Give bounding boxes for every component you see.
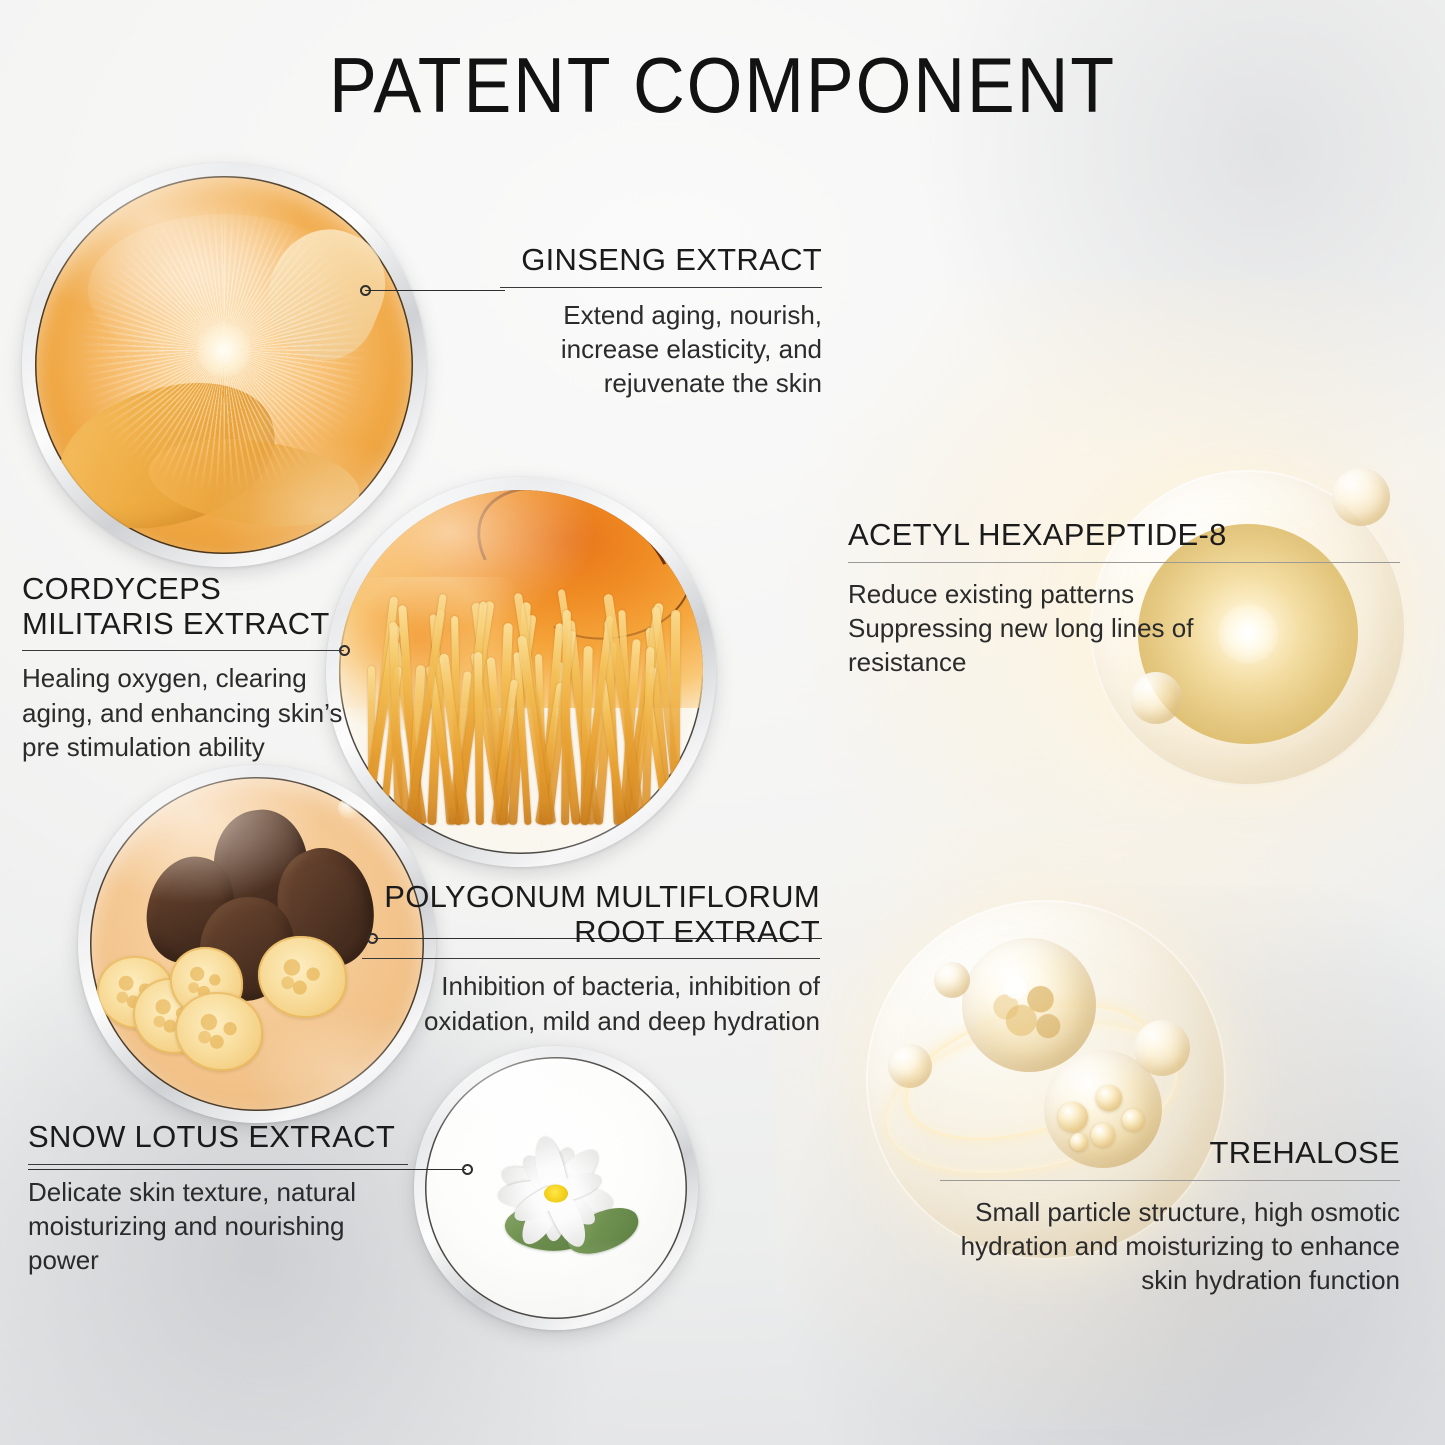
ingredient-name-trehalose: TREHALOSE xyxy=(940,1136,1400,1171)
inner-golden-sphere xyxy=(962,938,1096,1072)
infographic-canvas: PATENT COMPONENT xyxy=(0,0,1445,1445)
dish-contents xyxy=(425,1057,687,1319)
callout-acetyl-hexapeptide: ACETYL HEXAPEPTIDE-8 Reduce existing pat… xyxy=(848,518,1400,680)
ingredient-description-acetyl-hexapeptide: Reduce existing patterns Suppressing new… xyxy=(848,577,1400,680)
polygonum-root-slice xyxy=(258,936,347,1017)
ingredient-name-snow-lotus: SNOW LOTUS EXTRACT xyxy=(28,1120,408,1155)
ingredient-description-trehalose: Small particle structure, high osmotic h… xyxy=(940,1195,1400,1298)
ingredient-description-polygonum: Inhibition of bacteria, inhibition of ox… xyxy=(362,969,820,1038)
ingredient-description-cordyceps: Healing oxygen, clearing aging, and enha… xyxy=(22,661,344,764)
satellite-bubble xyxy=(934,962,970,998)
snow-lotus-petri-dish xyxy=(414,1046,698,1330)
ingredient-description-snow-lotus: Delicate skin texture, natural moisturiz… xyxy=(28,1175,408,1278)
cordyceps-strand xyxy=(671,610,680,825)
callout-rule xyxy=(22,650,344,651)
satellite-bubble xyxy=(1130,672,1182,724)
dish-contents xyxy=(339,490,703,854)
ginseng-burst-core xyxy=(197,323,251,377)
ingredient-name-cordyceps: CORDYCEPS MILITARIS EXTRACT xyxy=(22,572,344,641)
cordyceps-petri-dish xyxy=(326,477,716,867)
lotus-center xyxy=(544,1184,568,1202)
satellite-bubble xyxy=(888,1044,932,1088)
molecule-node xyxy=(1058,1102,1088,1132)
cordyceps-strand-bundle xyxy=(368,585,681,825)
callout-rule xyxy=(848,562,1400,563)
callout-polygonum: POLYGONUM MULTIFLORUM ROOT EXTRACT Inhib… xyxy=(362,880,820,1038)
molecule-node xyxy=(1096,1085,1122,1111)
molecule-node xyxy=(1122,1109,1144,1131)
callout-rule xyxy=(28,1164,408,1165)
leader-dot-ginseng xyxy=(360,285,371,296)
ingredient-name-acetyl-hexapeptide: ACETYL HEXAPEPTIDE-8 xyxy=(848,518,1400,553)
callout-snow-lotus: SNOW LOTUS EXTRACT Delicate skin texture… xyxy=(28,1120,408,1278)
lotus-flower xyxy=(476,1126,636,1256)
callout-rule xyxy=(500,287,822,288)
ingredient-name-ginseng: GINSENG EXTRACT xyxy=(500,243,822,278)
callout-rule xyxy=(940,1180,1400,1181)
polygonum-root-slices xyxy=(97,931,358,1071)
callout-ginseng: GINSENG EXTRACT Extend aging, nourish, i… xyxy=(500,243,822,401)
leader-dot-lotus xyxy=(462,1164,473,1175)
ingredient-name-polygonum: POLYGONUM MULTIFLORUM ROOT EXTRACT xyxy=(362,880,820,949)
callout-trehalose: TREHALOSE Small particle structure, high… xyxy=(940,1136,1400,1298)
cordyceps-strand xyxy=(474,652,484,825)
ingredient-description-ginseng: Extend aging, nourish, increase elastici… xyxy=(500,298,822,401)
leader-line-ginseng xyxy=(365,290,505,291)
callout-cordyceps: CORDYCEPS MILITARIS EXTRACT Healing oxyg… xyxy=(22,572,344,764)
page-title: PATENT COMPONENT xyxy=(58,46,1387,124)
polygonum-root-slice xyxy=(175,992,264,1071)
satellite-bubble xyxy=(1134,1020,1190,1076)
callout-rule xyxy=(362,958,820,959)
